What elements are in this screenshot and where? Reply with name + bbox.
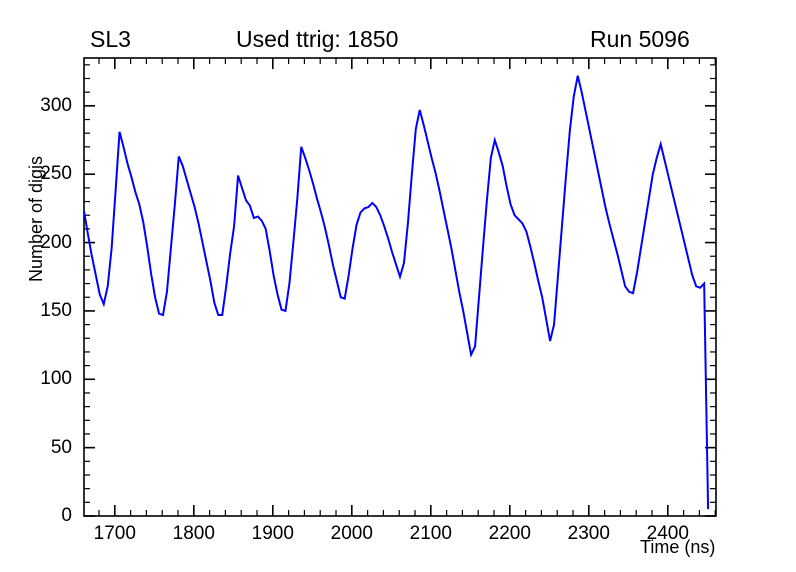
y-tick-label: 250: [10, 164, 72, 183]
y-tick-label: 200: [10, 233, 72, 252]
x-tick-label: 1900: [243, 524, 303, 543]
x-tick-label: 2300: [559, 524, 619, 543]
plot-area: [0, 0, 796, 572]
x-tick-label: 2400: [638, 524, 698, 543]
chart-canvas: SL3 Used ttrig: 1850 Run 5096 Number of …: [0, 0, 796, 572]
y-tick-label: 0: [10, 506, 72, 525]
plot-frame: [84, 58, 716, 516]
x-tick-label: 1700: [85, 524, 145, 543]
y-tick-label: 100: [10, 369, 72, 388]
x-tick-label: 2100: [401, 524, 461, 543]
data-series-digis: [84, 76, 708, 509]
axis-ticks: [84, 58, 716, 516]
x-tick-label: 1800: [164, 524, 224, 543]
x-tick-label: 2200: [480, 524, 540, 543]
y-tick-label: 150: [10, 301, 72, 320]
x-tick-label: 2000: [322, 524, 382, 543]
y-tick-label: 50: [10, 438, 72, 457]
y-tick-label: 300: [10, 96, 72, 115]
